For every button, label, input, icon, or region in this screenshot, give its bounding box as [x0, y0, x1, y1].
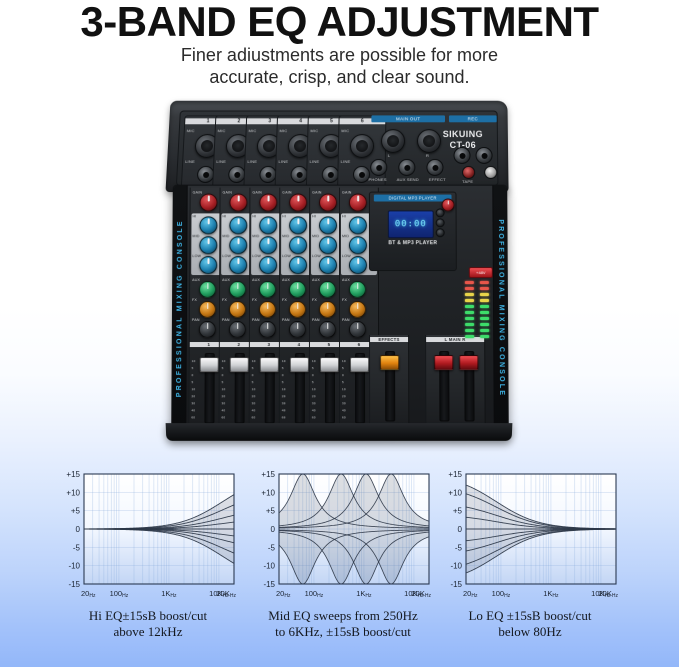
pan-label: PAN [282, 318, 290, 322]
eq-low-label: LOW [252, 254, 261, 258]
led-segment [465, 287, 474, 290]
fx-label: FX [222, 298, 227, 302]
mic-label: MIC [249, 128, 257, 133]
eq-mid-label: MID [282, 234, 289, 238]
eq-low-knob[interactable] [349, 256, 367, 274]
aux-knob[interactable] [349, 281, 366, 298]
fx-knob[interactable] [349, 301, 366, 318]
eq-hi-label: HI [342, 214, 346, 218]
svg-text:+15: +15 [66, 470, 80, 479]
led-segment [465, 281, 474, 284]
mic-label: MIC [341, 128, 349, 133]
pan-knob[interactable] [259, 321, 276, 338]
led-segment [480, 305, 489, 308]
pan-knob[interactable] [319, 321, 336, 338]
gain-label: GAIN [342, 191, 352, 195]
rec-out-right-jack [476, 147, 493, 164]
eq-chart-svg: +15+10+50-5-10-1520Hz100Hz1KHz10KHz20KHz [243, 468, 443, 608]
fx-knob[interactable] [229, 301, 246, 318]
svg-text:+15: +15 [448, 470, 462, 479]
fx-knob[interactable] [289, 301, 306, 318]
main-out-xlr-right [417, 129, 441, 153]
pan-knob[interactable] [199, 321, 216, 338]
led-segment [465, 323, 474, 326]
svg-text:20KHz: 20KHz [599, 589, 619, 599]
rca-jack-red [462, 166, 475, 179]
rec-out-left-jack [454, 147, 471, 164]
fx-label: FX [282, 298, 287, 302]
fx-label: FX [312, 298, 317, 302]
phones-jack [370, 159, 387, 176]
aux-label: AUX [222, 278, 230, 282]
aux-label: AUX [252, 278, 260, 282]
subtitle-line-2: accurate, crisp, and clear sound. [0, 66, 679, 88]
effects-strip: EFFECTS [369, 335, 409, 428]
gain-knob[interactable] [229, 194, 247, 212]
pan-label: PAN [192, 318, 200, 322]
mic-label: MIC [310, 128, 318, 133]
rec-header: REC [449, 115, 497, 122]
svg-text:1KHz: 1KHz [543, 589, 559, 599]
led-segment [465, 335, 474, 338]
phantom-power-button[interactable]: +48V [469, 267, 493, 278]
eq-hi-knob[interactable] [349, 216, 367, 234]
pan-label: PAN [312, 318, 320, 322]
left-side-rail: PROFESSIONAL MIXING CONSOLE [172, 186, 188, 431]
gain-knob[interactable] [319, 194, 337, 212]
svg-text:-5: -5 [268, 543, 276, 552]
svg-text:-15: -15 [450, 580, 462, 589]
eq-hi-label: HI [282, 214, 286, 218]
eq-chart-hi-eq: +15+10+50-5-10-1520Hz100Hz1KHz10KHz20KHz… [48, 468, 248, 608]
led-segment [465, 305, 474, 308]
eq-mid-label: MID [312, 234, 319, 238]
fader-scale: 105051020304060 [221, 359, 234, 423]
eq-low-knob[interactable] [229, 256, 247, 274]
svg-text:20Hz: 20Hz [276, 589, 291, 599]
svg-text:-10: -10 [68, 562, 80, 571]
eq-low-label: LOW [282, 254, 291, 258]
chart-caption-line-1: Mid EQ sweeps from 250Hz [243, 608, 443, 624]
led-segment [480, 287, 489, 290]
chart-caption-line-1: Hi EQ±15sB boost/cut [48, 608, 248, 624]
right-rail-text: PROFESSIONAL MIXING CONSOLE [496, 219, 504, 397]
eq-hi-knob[interactable] [259, 216, 277, 234]
gain-knob[interactable] [349, 194, 367, 212]
pan-knob[interactable] [289, 321, 306, 338]
svg-text:+10: +10 [261, 488, 275, 497]
eq-chart-svg: +15+10+50-5-10-1520Hz100Hz1KHz10KHz20KHz [48, 468, 248, 608]
eq-chart-mid-eq: +15+10+50-5-10-1520Hz100Hz1KHz10KHz20KHz… [243, 468, 443, 608]
led-segment [480, 317, 489, 320]
chart-caption-line-2: to 6KHz, ±15sB boost/cut [243, 624, 443, 640]
line-label: LINE [216, 159, 226, 164]
eq-mid-knob[interactable] [199, 236, 217, 254]
led-segment [480, 311, 489, 314]
fx-knob[interactable] [319, 301, 336, 318]
line-label: LINE [185, 159, 195, 164]
pan-knob[interactable] [349, 321, 366, 338]
eq-hi-knob[interactable] [289, 216, 307, 234]
effect-jack [426, 159, 443, 176]
rear-connector-panel: 1MICLINE2MICLINE3MICLINE4MICLINE5MICLINE… [165, 101, 508, 192]
svg-text:0: 0 [76, 525, 81, 534]
brand-name-text: SIKUING [443, 129, 483, 140]
svg-text:+5: +5 [71, 507, 81, 516]
main-right-fader-cap[interactable] [459, 355, 478, 370]
control-surface: PROFESSIONAL MIXING CONSOLE PROFESSIONAL… [171, 185, 509, 432]
main-out-header: MAIN OUT [371, 115, 445, 122]
aux-label: AUX [312, 278, 320, 282]
subtitle-line-1: Finer adiustments are possible for more [0, 44, 679, 66]
main-left-fader-cap[interactable] [434, 355, 453, 370]
eq-hi-label: HI [312, 214, 316, 218]
gain-knob[interactable] [289, 194, 307, 212]
eq-mid-label: MID [192, 234, 199, 238]
eq-hi-knob[interactable] [199, 216, 217, 234]
rca-jack-white [484, 166, 497, 179]
gain-label: GAIN [282, 191, 292, 195]
pan-label: PAN [252, 318, 260, 322]
led-segment [480, 299, 489, 302]
chart-caption-line-2: above 12kHz [48, 624, 248, 640]
svg-text:0: 0 [458, 525, 463, 534]
line-label: LINE [247, 159, 257, 164]
aux-label: AUX [342, 278, 350, 282]
svg-text:+5: +5 [453, 507, 463, 516]
led-segment [465, 299, 474, 302]
aux-label: AUX [192, 278, 200, 282]
eq-low-knob[interactable] [289, 256, 307, 274]
fx-label: FX [342, 298, 347, 302]
svg-text:20KHz: 20KHz [412, 589, 432, 599]
mp3-player-panel: DIGITAL MP3 PLAYER 00:00 BT & MP3 PLAYER [369, 192, 457, 271]
eq-low-label: LOW [192, 254, 201, 258]
gain-label: GAIN [252, 191, 262, 195]
page-subtitle: Finer adiustments are possible for more … [0, 44, 679, 88]
left-rail-text: PROFESSIONAL MIXING CONSOLE [175, 219, 183, 397]
fader-scale: 105051020304060 [312, 359, 325, 423]
led-segment [465, 311, 474, 314]
fader-scale: 105051020304060 [191, 359, 204, 423]
mp3-button-3[interactable] [436, 228, 445, 237]
aux-send-jack [398, 159, 415, 176]
eq-hi-label: HI [252, 214, 256, 218]
led-segment [465, 329, 474, 332]
svg-text:100Hz: 100Hz [305, 589, 324, 599]
led-segment [480, 323, 489, 326]
fader-scale: 105051020304060 [342, 359, 355, 423]
eq-mid-label: MID [252, 234, 259, 238]
led-level-meter [465, 281, 495, 343]
led-segment [465, 293, 474, 296]
chart-caption-line-2: below 80Hz [430, 624, 630, 640]
fx-knob[interactable] [259, 301, 276, 318]
effect-label: EFFECT [429, 177, 446, 182]
chart-caption: Lo EQ ±15sB boost/cutbelow 80Hz [430, 608, 630, 640]
gain-label: GAIN [223, 191, 233, 195]
mp3-volume-knob[interactable] [442, 199, 455, 212]
eq-chart-svg: +15+10+50-5-10-1520Hz100Hz1KHz10KHz20KHz [430, 468, 630, 608]
aux-label: AUX [282, 278, 290, 282]
led-segment [480, 281, 489, 284]
gain-knob[interactable] [200, 194, 218, 212]
svg-text:+15: +15 [261, 470, 275, 479]
svg-text:-15: -15 [68, 580, 80, 589]
svg-text:-15: -15 [263, 580, 275, 589]
aux-knob[interactable] [229, 281, 246, 298]
fx-label: FX [192, 298, 197, 302]
eq-low-label: LOW [342, 254, 351, 258]
eq-chart-lo-eq: +15+10+50-5-10-1520Hz100Hz1KHz10KHz20KHz… [430, 468, 630, 608]
phones-label: PHONES [368, 177, 386, 182]
chart-caption: Hi EQ±15sB boost/cutabove 12kHz [48, 608, 248, 640]
eq-low-knob[interactable] [199, 256, 217, 274]
aux-knob[interactable] [289, 281, 306, 298]
svg-text:+10: +10 [448, 488, 462, 497]
mic-label: MIC [279, 128, 287, 133]
svg-text:20Hz: 20Hz [463, 589, 478, 599]
svg-text:20Hz: 20Hz [81, 589, 96, 599]
led-segment [465, 317, 474, 320]
main-out-xlr-left [381, 129, 405, 153]
led-segment [480, 293, 489, 296]
eq-mid-knob[interactable] [289, 236, 307, 254]
fader-scale: 105051020304060 [252, 359, 265, 423]
gain-label: GAIN [312, 191, 322, 195]
svg-text:+10: +10 [66, 488, 80, 497]
svg-text:1KHz: 1KHz [356, 589, 372, 599]
eq-low-label: LOW [222, 254, 231, 258]
main-out-right-label: R [426, 153, 429, 158]
chart-caption-line-1: Lo EQ ±15sB boost/cut [430, 608, 630, 624]
svg-text:20KHz: 20KHz [217, 589, 237, 599]
line-label: LINE [310, 159, 320, 164]
eq-hi-label: HI [193, 214, 197, 218]
mp3-panel-caption: BT & MP3 PLAYER [370, 240, 456, 246]
eq-mid-label: MID [342, 234, 349, 238]
gain-label: GAIN [193, 191, 203, 195]
eq-mid-knob[interactable] [349, 236, 367, 254]
fx-label: FX [252, 298, 257, 302]
eq-hi-label: HI [222, 214, 226, 218]
line-label: LINE [278, 159, 288, 164]
chart-caption: Mid EQ sweeps from 250Hzto 6KHz, ±15sB b… [243, 608, 443, 640]
product-photo-mixer: 1MICLINE2MICLINE3MICLINE4MICLINE5MICLINE… [160, 98, 520, 448]
svg-text:-5: -5 [455, 543, 463, 552]
eq-low-knob[interactable] [259, 256, 277, 274]
front-edge [166, 423, 513, 441]
effects-strip-label: EFFECTS [370, 337, 408, 342]
aux-knob[interactable] [259, 281, 276, 298]
line-label: LINE [341, 159, 351, 164]
mic-label: MIC [187, 128, 195, 133]
pan-label: PAN [342, 318, 350, 322]
eq-mid-knob[interactable] [319, 236, 337, 254]
gain-knob[interactable] [259, 194, 277, 212]
mp3-button-2[interactable] [436, 218, 445, 227]
svg-text:+5: +5 [266, 507, 276, 516]
eq-low-knob[interactable] [319, 256, 337, 274]
svg-text:-10: -10 [263, 562, 275, 571]
fx-knob[interactable] [199, 301, 216, 318]
page-background: 3-BAND EQ ADJUSTMENT Finer adiustments a… [0, 0, 679, 667]
eq-mid-knob[interactable] [229, 236, 247, 254]
aux-knob[interactable] [319, 281, 336, 298]
eq-hi-knob[interactable] [229, 216, 247, 234]
mp3-panel-header: DIGITAL MP3 PLAYER [374, 195, 452, 202]
led-segment [480, 335, 489, 338]
eq-low-label: LOW [312, 254, 321, 258]
page-title: 3-BAND EQ ADJUSTMENT [0, 0, 679, 46]
svg-text:-10: -10 [450, 562, 462, 571]
xlr-mic-input[interactable] [350, 134, 374, 158]
svg-text:0: 0 [271, 525, 276, 534]
svg-text:100Hz: 100Hz [110, 589, 129, 599]
mic-label: MIC [218, 128, 226, 133]
aux-knob[interactable] [199, 281, 216, 298]
eq-mid-label: MID [222, 234, 229, 238]
main-mix-strip: L MAIN R [425, 335, 486, 428]
effects-fader-cap[interactable] [380, 355, 399, 370]
rear-panel-inner: 1MICLINE2MICLINE3MICLINE4MICLINE5MICLINE… [176, 111, 499, 186]
eq-hi-knob[interactable] [319, 216, 337, 234]
svg-text:-5: -5 [73, 543, 81, 552]
svg-text:100Hz: 100Hz [492, 589, 511, 599]
pan-label: PAN [222, 318, 230, 322]
tape-label: TAPE [462, 179, 473, 184]
eq-mid-knob[interactable] [259, 236, 277, 254]
fader-scale: 105051020304060 [282, 359, 295, 423]
led-segment [480, 329, 489, 332]
mp3-lcd-display: 00:00 [388, 210, 434, 238]
svg-text:1KHz: 1KHz [161, 589, 177, 599]
pan-knob[interactable] [229, 321, 246, 338]
aux-send-label: AUX SEND [397, 177, 419, 182]
main-out-left-label: L [388, 153, 390, 158]
eq-charts: +15+10+50-5-10-1520Hz100Hz1KHz10KHz20KHz… [0, 468, 679, 668]
